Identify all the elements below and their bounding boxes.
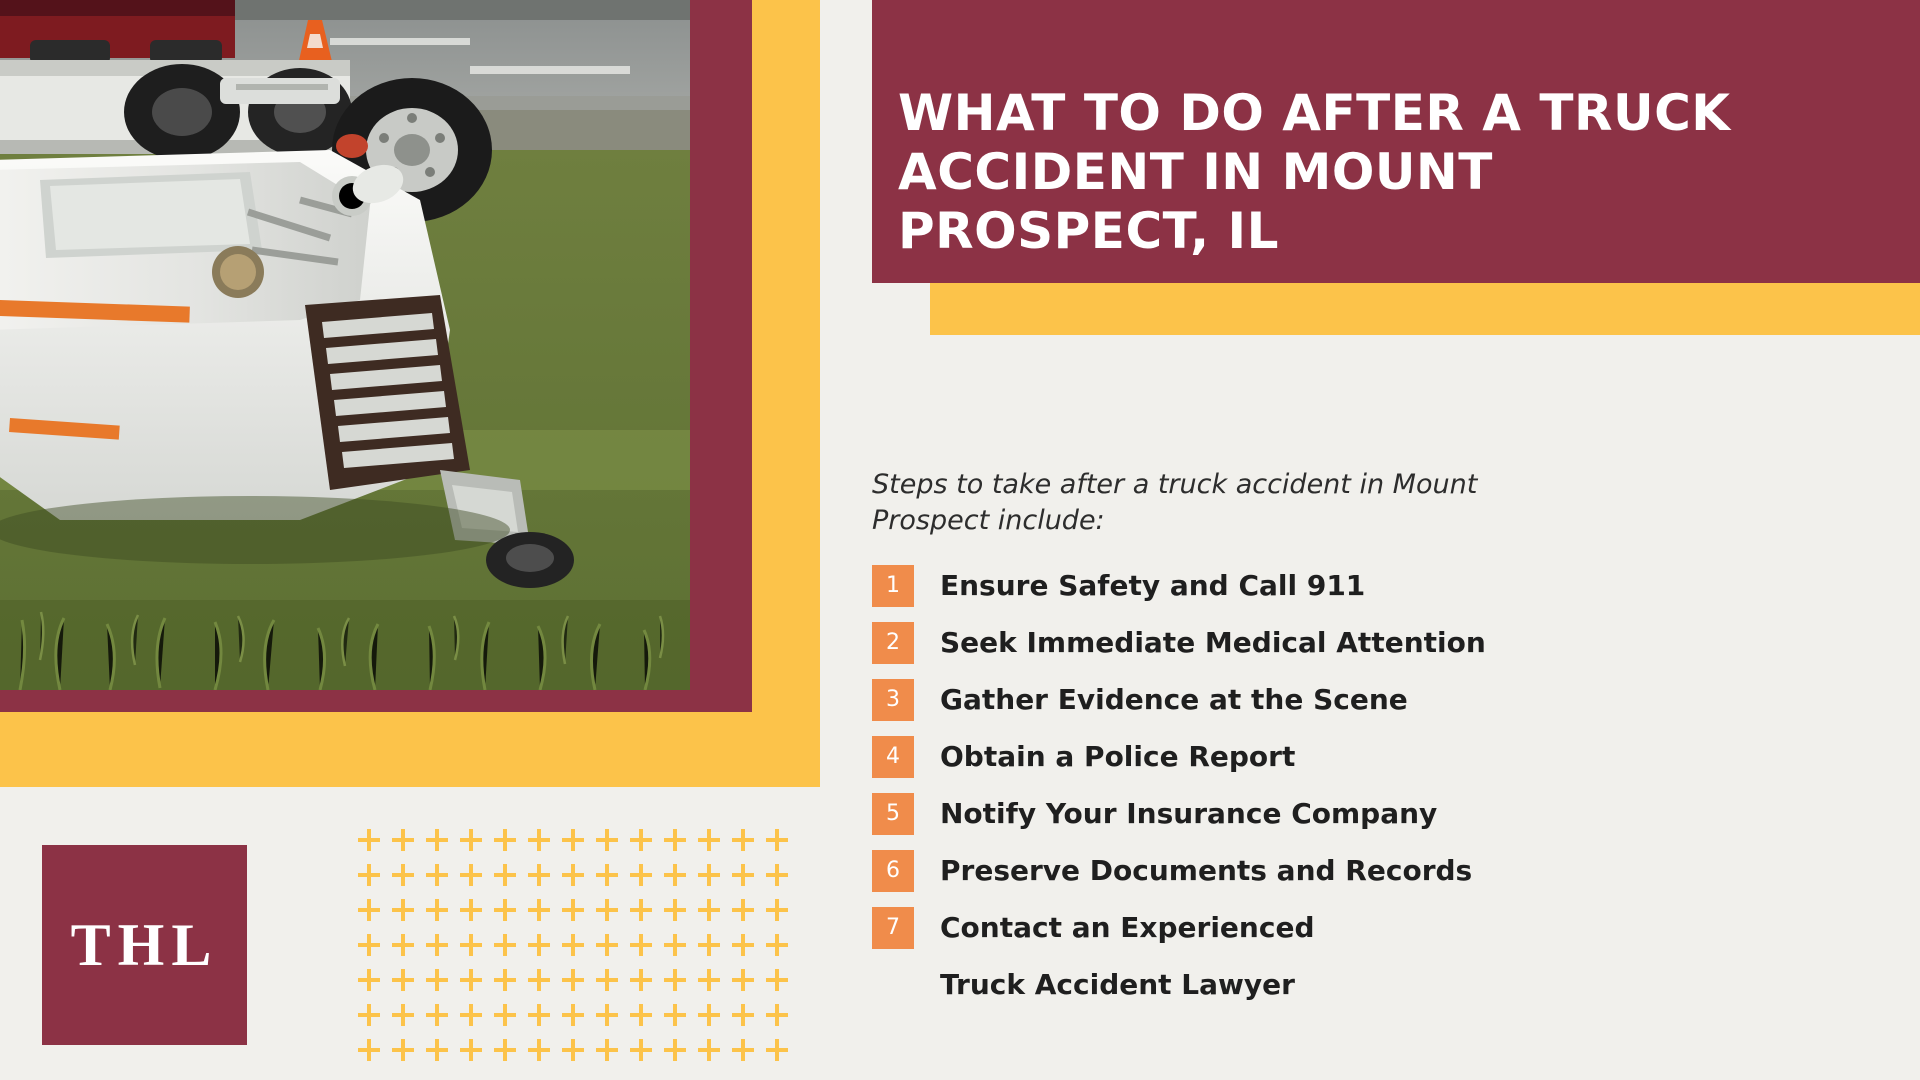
step-number-badge: 7 (872, 907, 914, 949)
thl-logo-text: THL (71, 911, 219, 980)
list-item: 6 Preserve Documents and Records (872, 842, 1772, 899)
step-label: Preserve Documents and Records (940, 854, 1472, 887)
step-label-continuation: Truck Accident Lawyer (940, 968, 1295, 1001)
list-item: 5 Notify Your Insurance Company (872, 785, 1772, 842)
left-graphic-column: THL (0, 0, 820, 1080)
yellow-vertical-strip (752, 0, 820, 787)
page-title: WHAT TO DO AFTER A TRUCK ACCIDENT IN MOU… (898, 84, 1738, 261)
step-number-badge: 2 (872, 622, 914, 664)
plus-decoration-pattern (352, 828, 802, 1063)
step-label: Gather Evidence at the Scene (940, 683, 1408, 716)
step-label: Ensure Safety and Call 911 (940, 569, 1365, 602)
title-accent-bar (930, 283, 1920, 335)
step-label: Seek Immediate Medical Attention (940, 626, 1486, 659)
step-label: Contact an Experienced (940, 911, 1315, 944)
list-item: 1 Ensure Safety and Call 911 (872, 557, 1772, 614)
steps-list: 1 Ensure Safety and Call 911 2 Seek Imme… (872, 557, 1772, 1013)
step-label: Notify Your Insurance Company (940, 797, 1437, 830)
step-number-badge: 1 (872, 565, 914, 607)
list-item: 7 Contact an Experienced (872, 899, 1772, 956)
list-item-continuation: Truck Accident Lawyer (872, 956, 1772, 1013)
list-item: 3 Gather Evidence at the Scene (872, 671, 1772, 728)
yellow-horizontal-bar (0, 712, 820, 787)
step-number-badge: 5 (872, 793, 914, 835)
list-item: 2 Seek Immediate Medical Attention (872, 614, 1772, 671)
step-number-badge: 3 (872, 679, 914, 721)
list-item: 4 Obtain a Police Report (872, 728, 1772, 785)
step-number-badge: 6 (872, 850, 914, 892)
subtitle-text: Steps to take after a truck accident in … (872, 467, 1512, 539)
thl-logo: THL (42, 845, 247, 1045)
step-number-badge: 4 (872, 736, 914, 778)
step-label: Obtain a Police Report (940, 740, 1295, 773)
truck-accident-photo (0, 0, 690, 690)
